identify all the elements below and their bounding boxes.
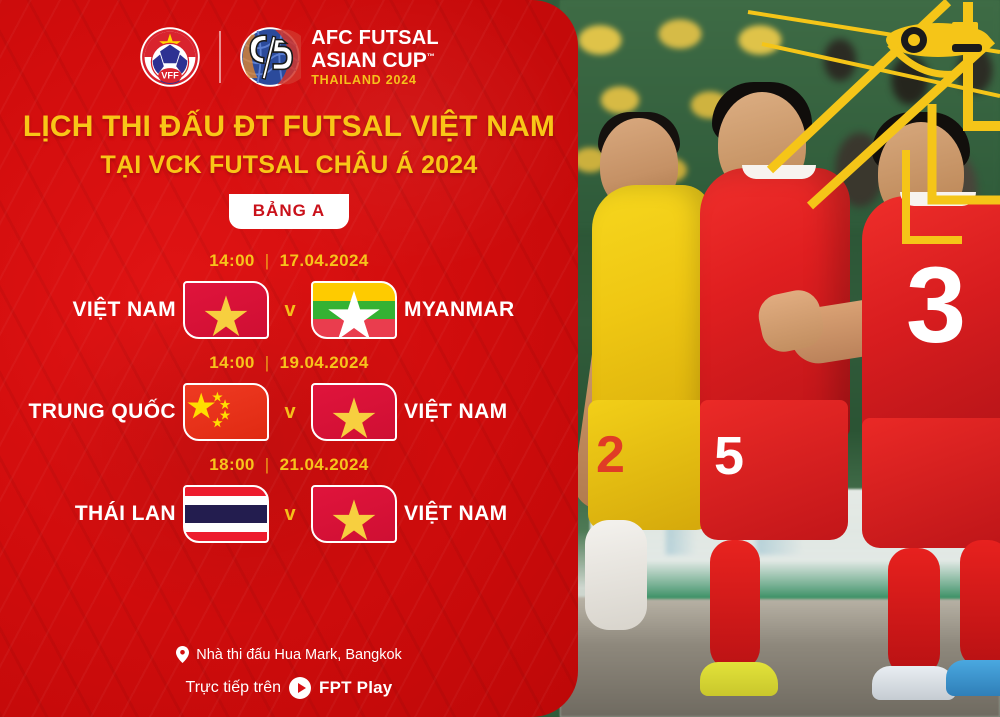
afc-futsal-asian-cup-logo: AFC FUTSAL ASIAN CUP™ THAILAND 2024 bbox=[239, 26, 439, 88]
datetime-separator: | bbox=[265, 251, 270, 271]
match-row: 14:00 | 19.04.2024 TRUNG QUỐC bbox=[0, 347, 578, 449]
player-red-far-sock bbox=[960, 540, 1000, 668]
broadcast-channel-label: FPT Play bbox=[319, 678, 392, 698]
broadcast-prefix-label: Trực tiếp trên bbox=[186, 679, 281, 697]
match-datetime: 18:00 | 21.04.2024 bbox=[0, 455, 578, 475]
trademark-symbol: ™ bbox=[427, 52, 435, 61]
player-yellow-knee-pad bbox=[585, 520, 647, 630]
match-row: 18:00 | 21.04.2024 THÁI LAN v bbox=[0, 449, 578, 551]
match-row: 14:00 | 17.04.2024 VIỆT NAM v bbox=[0, 245, 578, 347]
page-title: LỊCH THI ĐẤU ĐT FUTSAL VIỆT NAM bbox=[23, 110, 555, 144]
player-red-right-collar bbox=[900, 192, 976, 206]
datetime-separator: | bbox=[265, 455, 270, 475]
player-red-center-shoe bbox=[700, 662, 778, 696]
match-time: 14:00 bbox=[209, 353, 254, 373]
vietnam-flag bbox=[311, 485, 397, 543]
match-datetime: 14:00 | 19.04.2024 bbox=[0, 353, 578, 373]
afc-logo-line3: THAILAND 2024 bbox=[311, 74, 439, 87]
player-red-far-shoe bbox=[946, 660, 1000, 696]
player-yellow-number: 2 bbox=[596, 425, 636, 485]
thailand-flag bbox=[183, 485, 269, 543]
group-badge: BẢNG A bbox=[229, 194, 349, 229]
versus-separator: v bbox=[284, 299, 295, 322]
play-circle-icon bbox=[289, 677, 311, 699]
china-flag bbox=[183, 383, 269, 441]
player-red-center-collar bbox=[742, 165, 816, 179]
match-time: 14:00 bbox=[209, 251, 254, 271]
match-datetime: 14:00 | 17.04.2024 bbox=[0, 251, 578, 271]
match-date: 21.04.2024 bbox=[280, 455, 369, 475]
venue-label: Nhà thi đấu Hua Mark, Bangkok bbox=[196, 647, 402, 663]
vff-logo-icon: VFF bbox=[139, 26, 201, 88]
vietnam-star-icon bbox=[185, 283, 267, 338]
afc-logo-line2: ASIAN CUP™ bbox=[311, 50, 439, 71]
versus-separator: v bbox=[284, 401, 295, 424]
poster-canvas: 2 5 3 bbox=[0, 0, 1000, 717]
home-team-name: VIỆT NAM bbox=[72, 298, 180, 322]
vietnam-flag bbox=[183, 281, 269, 339]
venue-row: Nhà thi đấu Hua Mark, Bangkok bbox=[0, 646, 578, 663]
datetime-separator: | bbox=[265, 353, 270, 373]
logo-row: VFF bbox=[139, 26, 439, 88]
thailand-top-white-stripe bbox=[185, 496, 267, 505]
player-red-right-sock bbox=[888, 548, 940, 676]
afc-badge-icon bbox=[239, 26, 301, 88]
home-team-name: TRUNG QUỐC bbox=[29, 400, 181, 424]
thailand-bottom-white-stripe bbox=[185, 523, 267, 532]
afc-logo-line2-text: ASIAN CUP bbox=[311, 49, 427, 72]
location-pin-icon bbox=[176, 646, 189, 663]
vietnam-flag bbox=[311, 383, 397, 441]
afc-logo-line1: AFC FUTSAL bbox=[311, 28, 439, 48]
player-red-center-sock bbox=[710, 540, 760, 670]
china-stars-icon bbox=[185, 385, 267, 440]
player-red-center-number: 5 bbox=[714, 425, 754, 487]
player-red-right-shoe bbox=[872, 666, 956, 700]
match-time: 18:00 bbox=[209, 455, 254, 475]
logo-divider bbox=[219, 31, 221, 83]
home-team-name: THÁI LAN bbox=[75, 502, 180, 526]
page-subtitle: TẠI VCK FUTSAL CHÂU Á 2024 bbox=[100, 151, 477, 180]
thailand-blue-stripe bbox=[185, 505, 267, 523]
away-team-name: MYANMAR bbox=[400, 298, 515, 322]
schedule-panel: VFF bbox=[0, 0, 578, 717]
match-list: 14:00 | 17.04.2024 VIỆT NAM v bbox=[0, 245, 578, 551]
vietnam-star-icon bbox=[313, 487, 395, 542]
broadcast-row: Trực tiếp trên FPT Play bbox=[0, 677, 578, 699]
player-red-right-shorts bbox=[862, 418, 1000, 548]
match-date: 17.04.2024 bbox=[280, 251, 369, 271]
versus-separator: v bbox=[284, 503, 295, 526]
away-team-name: VIỆT NAM bbox=[400, 400, 508, 424]
myanmar-flag bbox=[311, 281, 397, 339]
vietnam-star-icon bbox=[313, 385, 395, 440]
footer: Nhà thi đấu Hua Mark, Bangkok Trực tiếp … bbox=[0, 646, 578, 717]
myanmar-star-icon bbox=[313, 283, 395, 338]
thailand-top-red-stripe bbox=[185, 487, 267, 496]
thailand-bottom-red-stripe bbox=[185, 532, 267, 541]
svg-text:VFF: VFF bbox=[161, 71, 179, 81]
away-team-name: VIỆT NAM bbox=[400, 502, 508, 526]
match-date: 19.04.2024 bbox=[280, 353, 369, 373]
player-red-right-number: 3 bbox=[906, 250, 970, 360]
